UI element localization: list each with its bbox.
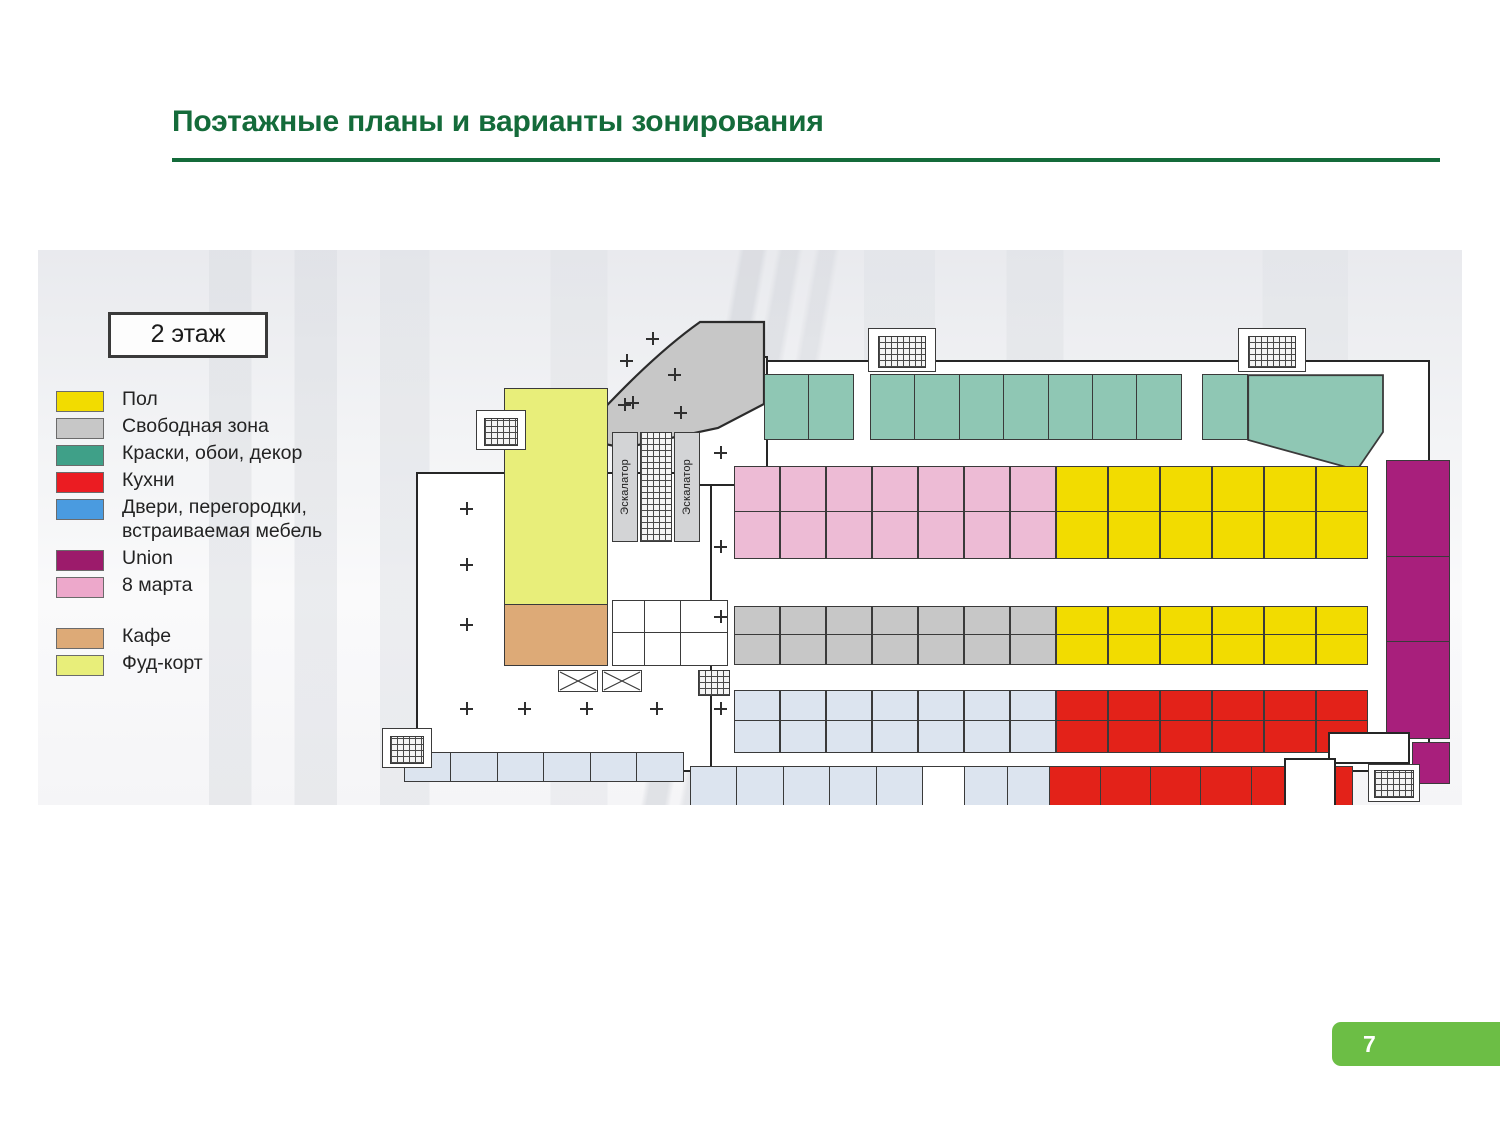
plan-cell[interactable] <box>780 606 826 637</box>
legend-label-pol: Пол <box>122 388 158 412</box>
plan-cell[interactable] <box>964 766 1008 805</box>
row-1-wrapper <box>734 466 1368 557</box>
plan-cell[interactable] <box>964 690 1010 723</box>
legend: ПолСвободная зонаКраски, обои, декорКухн… <box>56 388 386 679</box>
legend-label-food-court: Фуд-корт <box>122 652 203 676</box>
legend-swatch-pol <box>56 391 104 412</box>
plan-cell[interactable] <box>1212 690 1264 723</box>
plan-cell[interactable] <box>780 634 826 665</box>
escalator-left-label: Эскалатор <box>619 459 631 515</box>
plan-cell[interactable] <box>1010 720 1056 753</box>
plan-cell-paints-end[interactable] <box>1247 374 1385 472</box>
legend-swatch-kitchens <box>56 472 104 493</box>
plan-cell[interactable] <box>1264 690 1316 723</box>
plan-cell[interactable] <box>826 634 872 665</box>
legend-label-doors: Двери, перегородки, встраиваемая мебель <box>122 496 322 544</box>
service-partition <box>644 600 645 666</box>
floor-badge: 2 этаж <box>108 312 268 358</box>
plan-cell[interactable] <box>1007 766 1051 805</box>
plan-cell[interactable] <box>1056 511 1108 559</box>
plan-cell[interactable] <box>734 606 780 637</box>
column-mark <box>518 702 531 715</box>
service-partition <box>680 600 681 666</box>
stair-hatch <box>1248 336 1296 368</box>
column-mark <box>460 558 473 571</box>
plan-cell[interactable] <box>1056 720 1108 753</box>
plan-cell[interactable] <box>1108 720 1160 753</box>
plan-cell[interactable] <box>1212 634 1264 665</box>
plan-cell[interactable] <box>870 374 916 440</box>
plan-cell[interactable] <box>734 634 780 665</box>
plan-cell[interactable] <box>1056 606 1108 637</box>
row-paints-segment-b <box>870 374 1181 440</box>
column-mark <box>650 702 663 715</box>
column-mark <box>668 368 681 381</box>
plan-cell[interactable] <box>1212 606 1264 637</box>
plan-cell[interactable] <box>1316 511 1368 559</box>
plan-cell[interactable] <box>1212 720 1264 753</box>
legend-label-kitchens: Кухни <box>122 469 175 493</box>
escalator-steps-hatch <box>640 432 672 542</box>
plan-cell[interactable] <box>1010 466 1056 514</box>
plan-cell[interactable] <box>690 766 738 805</box>
plan-cell[interactable] <box>918 720 964 753</box>
floor-plan-figure: 2 этаж ПолСвободная зонаКраски, обои, де… <box>38 250 1462 805</box>
bottom-row-main <box>690 766 1352 805</box>
plan-cell[interactable] <box>964 634 1010 665</box>
plan-cell[interactable] <box>1010 511 1056 559</box>
plan-cell[interactable] <box>1056 634 1108 665</box>
plan-cell[interactable] <box>1160 606 1212 637</box>
plan-cell[interactable] <box>829 766 877 805</box>
plan-cell[interactable] <box>1003 374 1049 440</box>
plan-cell[interactable] <box>1160 466 1212 514</box>
page-title: Поэтажные планы и варианты зонирования <box>172 105 824 139</box>
column-mark <box>646 332 659 345</box>
plan-cell[interactable] <box>872 606 918 637</box>
plan-cell[interactable] <box>636 752 684 782</box>
plan-cell[interactable] <box>1316 606 1368 637</box>
plan-cell[interactable] <box>497 752 545 782</box>
right-column-union <box>1386 460 1450 737</box>
plan-cell[interactable] <box>736 766 784 805</box>
column-mark <box>618 398 631 411</box>
legend-group-gap <box>56 601 386 625</box>
plan-cell[interactable] <box>1136 374 1182 440</box>
column-mark <box>620 354 633 367</box>
legend-item-food-court[interactable]: Фуд-корт <box>56 652 386 676</box>
plan-cell[interactable] <box>918 466 964 514</box>
legend-item-march8[interactable]: 8 марта <box>56 574 386 598</box>
column-mark <box>460 702 473 715</box>
legend-label-cafe: Кафе <box>122 625 171 649</box>
plan-cell[interactable] <box>1200 766 1252 805</box>
plan-cell[interactable] <box>780 511 826 559</box>
escalator-right: Эскалатор <box>674 432 700 542</box>
legend-swatch-union <box>56 550 104 571</box>
plan-cell[interactable] <box>918 511 964 559</box>
plan-cell[interactable] <box>1212 466 1264 514</box>
plan-cell[interactable] <box>826 466 872 514</box>
page-number-text: 7 <box>1363 1031 1376 1058</box>
plan-cell[interactable] <box>543 752 591 782</box>
cafe-block[interactable] <box>504 604 608 666</box>
plan-cell[interactable] <box>1386 641 1450 739</box>
row-3-wrapper <box>734 690 1368 751</box>
legend-item-kitchens[interactable]: Кухни <box>56 469 386 493</box>
plan-cell[interactable] <box>1092 374 1138 440</box>
plan-cell[interactable] <box>826 511 872 559</box>
legend-item-union[interactable]: Union <box>56 547 386 571</box>
plan-cell[interactable] <box>826 606 872 637</box>
stair-hatch <box>484 418 518 446</box>
plan-cell[interactable] <box>1108 511 1160 559</box>
plan-cell[interactable] <box>826 690 872 723</box>
plan-cell[interactable] <box>1316 466 1368 514</box>
legend-swatch-food-court <box>56 655 104 676</box>
plan-cell[interactable] <box>1010 690 1056 723</box>
stair-hatch <box>390 736 424 764</box>
plan-cell[interactable] <box>1264 466 1316 514</box>
plan-cell[interactable] <box>1108 634 1160 665</box>
plan-cell[interactable] <box>1048 374 1094 440</box>
legend-item-cafe[interactable]: Кафе <box>56 625 386 649</box>
plan-cell[interactable] <box>914 374 960 440</box>
column-mark <box>714 610 727 623</box>
plan-cell[interactable] <box>783 766 831 805</box>
plan-cell[interactable] <box>780 720 826 753</box>
plan-cell[interactable] <box>876 766 924 805</box>
plan-cell[interactable] <box>872 466 918 514</box>
plan-cell[interactable] <box>1160 690 1212 723</box>
plan-cell[interactable] <box>918 690 964 723</box>
plan-cell[interactable] <box>964 606 1010 637</box>
plan-cell[interactable] <box>1386 556 1450 642</box>
page-number-badge: 7 <box>1332 1022 1500 1066</box>
legend-swatch-march8 <box>56 577 104 598</box>
plan-cell[interactable] <box>734 466 780 514</box>
plan-cell[interactable] <box>1316 634 1368 665</box>
plan-cell[interactable] <box>780 690 826 723</box>
plan-cell[interactable] <box>1056 466 1108 514</box>
column-mark <box>580 702 593 715</box>
stair-hatch <box>1374 770 1414 798</box>
plan-cell[interactable] <box>1202 374 1248 440</box>
column-mark <box>674 406 687 419</box>
column-mark <box>714 446 727 459</box>
plan-cell[interactable] <box>780 466 826 514</box>
plan-cell[interactable] <box>1056 690 1108 723</box>
plan-cell[interactable] <box>918 606 964 637</box>
plan-cell[interactable] <box>918 634 964 665</box>
plan-cell[interactable] <box>1108 606 1160 637</box>
plan-cell[interactable] <box>590 752 638 782</box>
plan-cell[interactable] <box>1212 511 1264 559</box>
plan-cell[interactable] <box>1160 720 1212 753</box>
bottom-row-left-stub <box>404 752 682 782</box>
plan-cell[interactable] <box>1010 634 1056 665</box>
plan-cell[interactable] <box>1264 720 1316 753</box>
plan-cell-vacant[interactable] <box>922 766 966 805</box>
stair-hatch <box>698 670 730 696</box>
plan-cell[interactable] <box>1160 511 1212 559</box>
plan-cell[interactable] <box>734 720 780 753</box>
plan-cell[interactable] <box>764 374 810 440</box>
column-mark <box>714 702 727 715</box>
service-core-outline <box>612 600 728 666</box>
title-underline-rule <box>172 158 1440 162</box>
plan-cell[interactable] <box>964 511 1010 559</box>
legend-label-march8: 8 марта <box>122 574 193 598</box>
plan-cell[interactable] <box>872 511 918 559</box>
plan-cell[interactable] <box>1264 511 1316 559</box>
plan-cell[interactable] <box>1108 690 1160 723</box>
legend-item-paints[interactable]: Краски, обои, декор <box>56 442 386 466</box>
plan-cell[interactable] <box>872 634 918 665</box>
plan-cell[interactable] <box>872 720 918 753</box>
plan-cell[interactable] <box>1386 460 1450 558</box>
plan-cell[interactable] <box>964 720 1010 753</box>
plan-drawing: Эскалатор Эскалатор <box>368 288 1450 803</box>
plan-cell[interactable] <box>1264 634 1316 665</box>
stair-hatch <box>878 336 926 368</box>
legend-swatch-paints <box>56 445 104 466</box>
plan-cell[interactable] <box>1150 766 1202 805</box>
row-paints-segment-a <box>764 374 853 440</box>
service-box-right-lower <box>1284 758 1336 805</box>
lift-shaft-cross <box>558 670 642 692</box>
plan-cell[interactable] <box>1049 766 1101 805</box>
plan-cell[interactable] <box>1100 766 1152 805</box>
legend-item-pol[interactable]: Пол <box>56 388 386 412</box>
plan-cell[interactable] <box>1010 606 1056 637</box>
plan-cell[interactable] <box>450 752 498 782</box>
row-2-wrapper <box>734 606 1368 663</box>
legend-label-union: Union <box>122 547 173 571</box>
legend-swatch-doors <box>56 499 104 520</box>
plan-cell[interactable] <box>734 511 780 559</box>
escalator-right-label: Эскалатор <box>681 459 693 515</box>
column-mark <box>714 540 727 553</box>
plan-cell[interactable] <box>826 720 872 753</box>
floor-plan-plate: 2 этаж ПолСвободная зонаКраски, обои, де… <box>38 250 1462 805</box>
legend-item-free-zone[interactable]: Свободная зона <box>56 415 386 439</box>
legend-swatch-free-zone <box>56 418 104 439</box>
plan-cell[interactable] <box>1160 634 1212 665</box>
plan-cell[interactable] <box>959 374 1005 440</box>
plan-cell[interactable] <box>1108 466 1160 514</box>
legend-item-doors[interactable]: Двери, перегородки, встраиваемая мебель <box>56 496 386 544</box>
column-mark <box>460 502 473 515</box>
plan-cell[interactable] <box>808 374 854 440</box>
plan-cell[interactable] <box>734 690 780 723</box>
column-mark <box>460 618 473 631</box>
service-partition <box>612 632 728 633</box>
service-box-right-upper <box>1328 732 1410 764</box>
plan-cell[interactable] <box>964 466 1010 514</box>
legend-label-free-zone: Свободная зона <box>122 415 269 439</box>
plan-cell[interactable] <box>872 690 918 723</box>
escalator-left: Эскалатор <box>612 432 638 542</box>
row-paints-segment-c <box>1202 374 1246 440</box>
plan-cell[interactable] <box>1264 606 1316 637</box>
legend-swatch-cafe <box>56 628 104 649</box>
plan-cell[interactable] <box>1316 690 1368 723</box>
legend-label-paints: Краски, обои, декор <box>122 442 302 466</box>
